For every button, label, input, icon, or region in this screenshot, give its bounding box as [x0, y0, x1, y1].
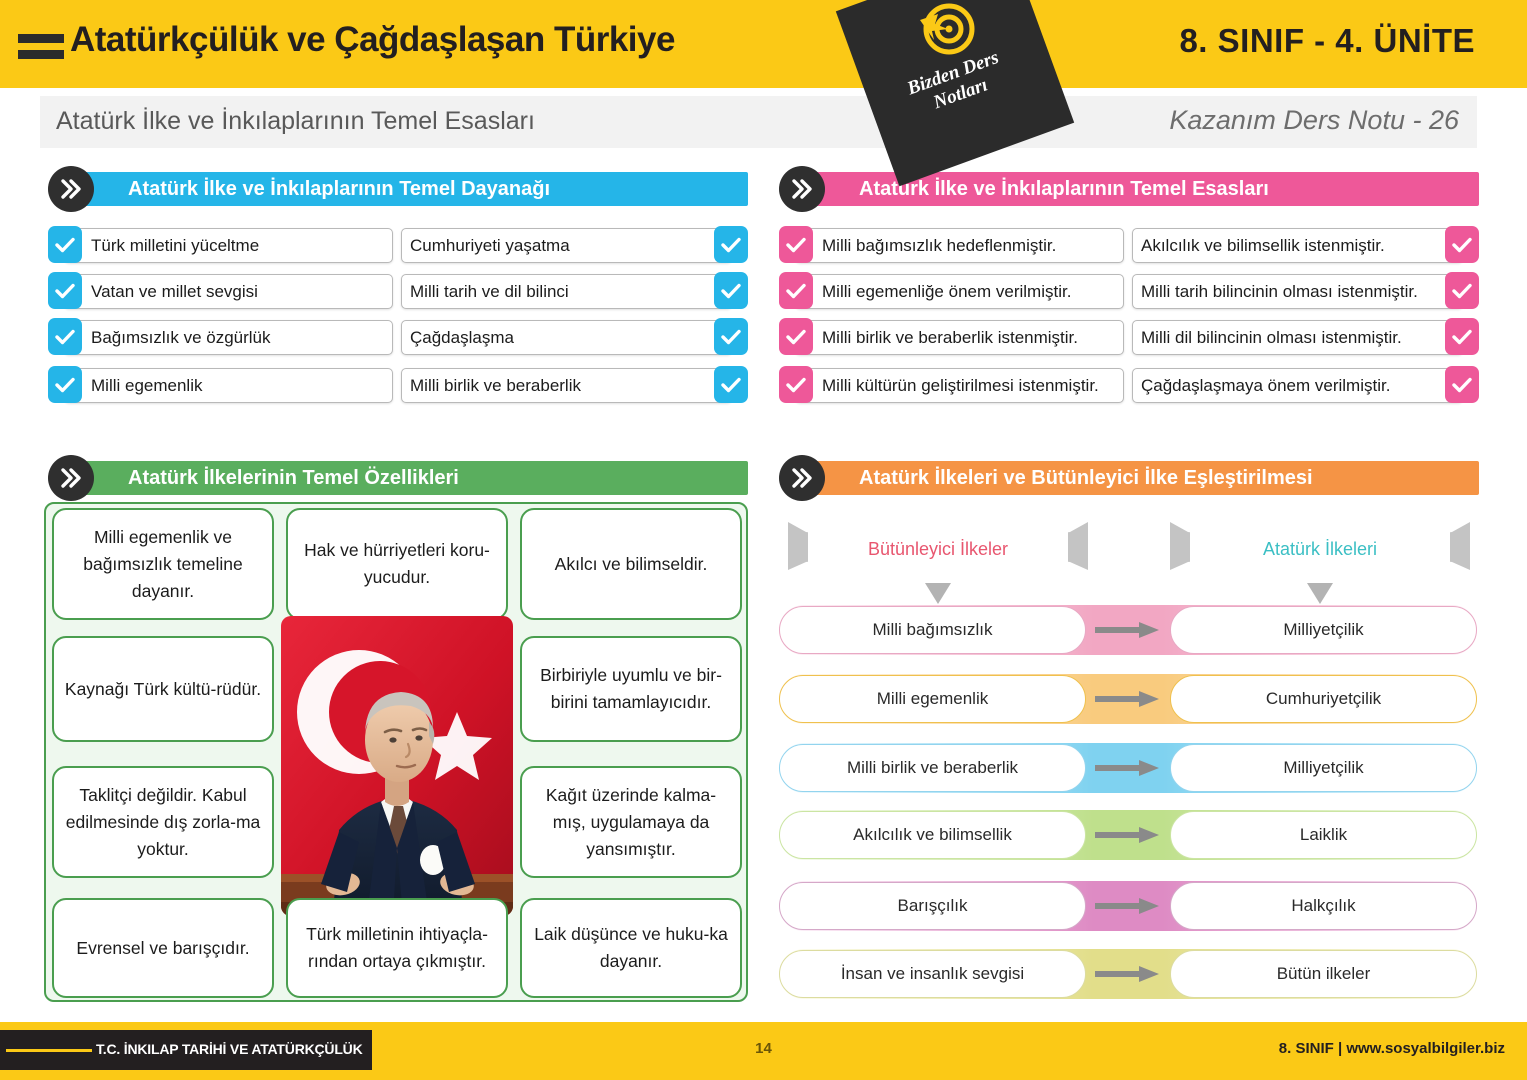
- match-right-label: Laiklik: [1300, 825, 1347, 845]
- match-row[interactable]: İnsan ve insanlık sevgisi Bütün ilkeler: [779, 949, 1477, 999]
- feature-card[interactable]: Kaynağı Türk kültü-rüdür.: [52, 636, 274, 742]
- check-icon[interactable]: [48, 272, 82, 309]
- list-item[interactable]: Milli tarih ve dil bilinci: [401, 272, 748, 311]
- list-item[interactable]: Çağdaşlaşma: [401, 318, 748, 357]
- banner-butunleyici: Bütünleyici İlkeler: [788, 518, 1088, 580]
- check-icon[interactable]: [779, 226, 813, 263]
- feature-card[interactable]: Laik düşünce ve huku-ka dayanır.: [520, 898, 742, 998]
- section-title-dayanak: Atatürk İlke ve İnkılaplarının Temel Day…: [78, 178, 550, 201]
- feature-card[interactable]: Kağıt üzerinde kalma-mış, uygulamaya da …: [520, 766, 742, 878]
- match-left-label: Barışçılık: [898, 896, 968, 916]
- list-item[interactable]: Vatan ve millet sevgisi: [48, 272, 393, 311]
- list-item-label: Milli birlik ve beraberlik istenmiştir.: [796, 328, 1078, 348]
- two-bars-icon: [18, 34, 64, 60]
- match-left-label: İnsan ve insanlık sevgisi: [841, 964, 1024, 984]
- list-item-label: Milli egemenliğe önem verilmiştir.: [796, 282, 1071, 302]
- section-header-dayanak: Atatürk İlke ve İnkılaplarının Temel Day…: [48, 172, 748, 206]
- check-icon[interactable]: [779, 318, 813, 355]
- arrow-right-icon: [1095, 898, 1161, 914]
- header-bar: Atatürkçülük ve Çağdaşlaşan Türkiye 8. S…: [0, 0, 1527, 88]
- list-item[interactable]: Türk milletini yüceltme: [48, 226, 393, 265]
- list-item-label: Türk milletini yüceltme: [65, 236, 259, 256]
- list-item-label: Çağdaşlaşmaya önem verilmiştir.: [1133, 376, 1390, 396]
- unit-label: 8. SINIF - 4. ÜNİTE: [1179, 22, 1475, 60]
- lesson-note-label: Kazanım Ders Notu - 26: [1169, 105, 1459, 136]
- arrow-right-icon: [1095, 622, 1161, 638]
- feature-card[interactable]: Milli egemenlik ve bağımsızlık temeline …: [52, 508, 274, 620]
- arrow-right-icon: [1095, 827, 1161, 843]
- subheader-title: Atatürk İlke ve İnkılaplarının Temel Esa…: [56, 107, 535, 136]
- list-item[interactable]: Milli egemenlik: [48, 366, 393, 405]
- check-icon[interactable]: [714, 366, 748, 403]
- list-item[interactable]: Milli birlik ve beraberlik: [401, 366, 748, 405]
- feature-card[interactable]: Türk milletinin ihtiyaçla-rından ortaya …: [286, 898, 508, 998]
- match-right-label: Halkçılık: [1291, 896, 1355, 916]
- match-row[interactable]: Milli birlik ve beraberlik Milliyetçilik: [779, 743, 1477, 793]
- check-icon[interactable]: [1445, 272, 1479, 309]
- list-item-label: Milli birlik ve beraberlik: [402, 376, 581, 396]
- page-root: Atatürkçülük ve Çağdaşlaşan Türkiye 8. S…: [0, 0, 1527, 1080]
- arrow-right-icon: [1095, 966, 1161, 982]
- check-icon[interactable]: [1445, 226, 1479, 263]
- list-item-label: Milli tarih bilincinin olması istenmişti…: [1133, 282, 1418, 302]
- list-item-label: Milli dil bilincinin olması istenmiştir.: [1133, 328, 1402, 348]
- check-icon[interactable]: [714, 226, 748, 263]
- footer-bar: T.C. İNKILAP TARİHİ VE ATATÜRKÇÜLÜK 14 8…: [0, 1022, 1527, 1080]
- double-chevron-icon: [48, 166, 94, 212]
- check-icon[interactable]: [48, 226, 82, 263]
- feature-card[interactable]: Taklitçi değildir. Kabul edilmesinde dış…: [52, 766, 274, 878]
- list-item[interactable]: Akılcılık ve bilimsellik istenmiştir.: [1132, 226, 1479, 265]
- match-right-label: Cumhuriyetçilik: [1266, 689, 1381, 709]
- list-item[interactable]: Milli birlik ve beraberlik istenmiştir.: [779, 318, 1124, 357]
- list-item[interactable]: Milli bağımsızlık hedeflenmiştir.: [779, 226, 1124, 265]
- list-item[interactable]: Bağımsızlık ve özgürlük: [48, 318, 393, 357]
- arrow-down-icon: [925, 583, 951, 604]
- section-header-esaslar: Atatürk İlke ve İnkılaplarının Temel Esa…: [779, 172, 1479, 206]
- arrow-right-icon: [1095, 760, 1161, 776]
- match-row[interactable]: Milli bağımsızlık Milliyetçilik: [779, 605, 1477, 655]
- list-item[interactable]: Milli tarih bilincinin olması istenmişti…: [1132, 272, 1479, 311]
- match-row[interactable]: Akılcılık ve bilimsellik Laiklik: [779, 810, 1477, 860]
- check-icon[interactable]: [779, 366, 813, 403]
- arrow-right-icon: [1095, 691, 1161, 707]
- brand-badge: Bizden Ders Notları: [836, 0, 1074, 186]
- check-icon[interactable]: [779, 272, 813, 309]
- double-chevron-icon: [779, 166, 825, 212]
- list-item-label: Milli kültürün geliştirilmesi istenmişti…: [796, 376, 1099, 396]
- check-icon[interactable]: [714, 272, 748, 309]
- arrow-down-icon: [1307, 583, 1333, 604]
- list-item-label: Milli tarih ve dil bilinci: [402, 282, 569, 302]
- match-left-label: Milli birlik ve beraberlik: [847, 758, 1018, 778]
- feature-card[interactable]: Evrensel ve barışçıdır.: [52, 898, 274, 998]
- subheader-bar: Atatürk İlke ve İnkılaplarının Temel Esa…: [40, 96, 1477, 148]
- list-item[interactable]: Milli egemenliğe önem verilmiştir.: [779, 272, 1124, 311]
- footer-site-label: 8. SINIF | www.sosyalbilgiler.biz: [1279, 1040, 1505, 1057]
- list-item[interactable]: Çağdaşlaşmaya önem verilmiştir.: [1132, 366, 1479, 405]
- page-title: Atatürkçülük ve Çağdaşlaşan Türkiye: [70, 20, 675, 60]
- match-row[interactable]: Barışçılık Halkçılık: [779, 881, 1477, 931]
- banner-label-butunleyici: Bütünleyici İlkeler: [788, 518, 1088, 580]
- section-title-eslestirme: Atatürk İlkeleri ve Bütünleyici İlke Eşl…: [809, 467, 1313, 490]
- match-left-label: Milli egemenlik: [877, 689, 988, 709]
- double-chevron-icon: [779, 455, 825, 501]
- list-item-label: Bağımsızlık ve özgürlük: [65, 328, 271, 348]
- check-icon[interactable]: [1445, 366, 1479, 403]
- target-dart-icon: [918, 0, 976, 58]
- check-icon[interactable]: [1445, 318, 1479, 355]
- ataturk-portrait-image: [281, 616, 513, 916]
- list-item-label: Akılcılık ve bilimsellik istenmiştir.: [1133, 236, 1385, 256]
- match-left-label: Milli bağımsızlık: [873, 620, 993, 640]
- check-icon[interactable]: [48, 318, 82, 355]
- banner-label-ataturk-ilkeleri: Atatürk İlkeleri: [1170, 518, 1470, 580]
- feature-card[interactable]: Hak ve hürriyetleri koru-yucudur.: [286, 508, 508, 620]
- feature-card[interactable]: Birbiriyle uyumlu ve bir-birini tamamlay…: [520, 636, 742, 742]
- section-title-ozellikler: Atatürk İlkelerinin Temel Özellikleri: [78, 467, 459, 490]
- section-title-esaslar: Atatürk İlke ve İnkılaplarının Temel Esa…: [809, 178, 1269, 201]
- feature-card[interactable]: Akılcı ve bilimseldir.: [520, 508, 742, 620]
- match-right-label: Milliyetçilik: [1283, 620, 1363, 640]
- list-item-label: Cumhuriyeti yaşatma: [402, 236, 570, 256]
- check-icon[interactable]: [48, 366, 82, 403]
- list-item[interactable]: Cumhuriyeti yaşatma: [401, 226, 748, 265]
- section-header-ozellikler: Atatürk İlkelerinin Temel Özellikleri: [48, 461, 748, 495]
- banner-ataturk-ilkeleri: Atatürk İlkeleri: [1170, 518, 1470, 580]
- section-header-eslestirme: Atatürk İlkeleri ve Bütünleyici İlke Eşl…: [779, 461, 1479, 495]
- list-item-label: Vatan ve millet sevgisi: [65, 282, 258, 302]
- double-chevron-icon: [48, 455, 94, 501]
- list-item-label: Çağdaşlaşma: [402, 328, 514, 348]
- match-right-label: Milliyetçilik: [1283, 758, 1363, 778]
- list-item[interactable]: Milli dil bilincinin olması istenmiştir.: [1132, 318, 1479, 357]
- match-right-label: Bütün ilkeler: [1277, 964, 1371, 984]
- list-item-label: Milli egemenlik: [65, 376, 202, 396]
- list-item[interactable]: Milli kültürün geliştirilmesi istenmişti…: [779, 366, 1124, 405]
- list-item-label: Milli bağımsızlık hedeflenmiştir.: [796, 236, 1056, 256]
- match-row[interactable]: Milli egemenlik Cumhuriyetçilik: [779, 674, 1477, 724]
- check-icon[interactable]: [714, 318, 748, 355]
- match-left-label: Akılcılık ve bilimsellik: [853, 825, 1012, 845]
